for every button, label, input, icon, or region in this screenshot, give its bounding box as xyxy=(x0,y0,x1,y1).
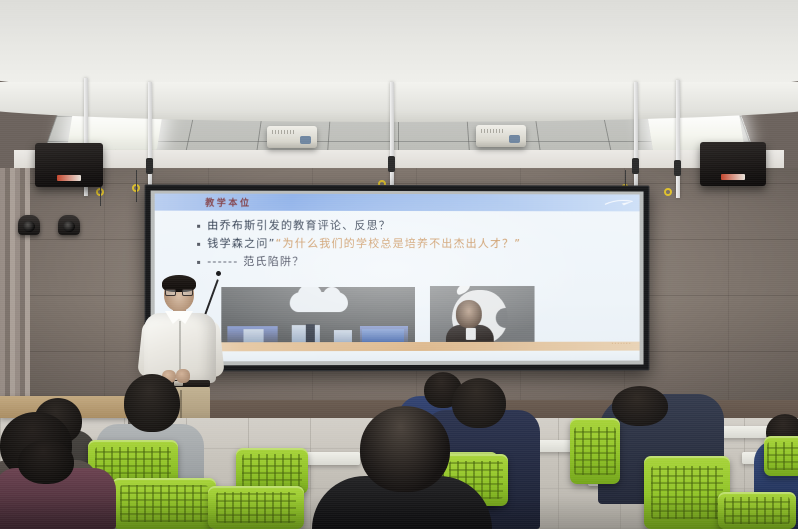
attendee-bowing-right-head xyxy=(612,386,668,426)
slide-footer-text: ······· xyxy=(612,341,632,348)
jobs-head xyxy=(456,300,482,328)
chair-center-front[interactable] xyxy=(208,486,304,529)
chair-right-back[interactable] xyxy=(570,418,620,484)
projector-vent-left xyxy=(272,130,294,134)
ptz-camera-2 xyxy=(58,215,80,235)
device-box-1 xyxy=(243,329,263,343)
jobs-phone xyxy=(466,328,476,340)
wall-speaker-right xyxy=(700,142,766,186)
mic-rod-2 xyxy=(148,82,152,200)
attendee-front-left-maroon-head xyxy=(18,440,74,484)
slide-bullet-3: ------ 范氏陷阱？ xyxy=(197,254,626,269)
attendee-grey-sweater-head xyxy=(124,374,180,432)
ceiling-projector-right xyxy=(476,125,526,147)
mic-rod-3 xyxy=(390,82,394,194)
chair-far-right-front[interactable] xyxy=(718,492,796,529)
mic-rod-hook-5 xyxy=(664,188,672,196)
chair-far-right-back[interactable] xyxy=(764,436,798,476)
slide-bullet-2-quote: “为什么我们的学校总是培养不出杰出人才？” xyxy=(276,237,522,250)
attendee-dark-jacket-center-head xyxy=(360,406,450,492)
bullet-marker-icon xyxy=(197,243,200,246)
cloud-computing-image xyxy=(221,287,415,349)
projection-screen-surface: 教学本位 由乔布斯引发的教育评论、反思？ 钱学森之问”“为什么我们的学校总是培养… xyxy=(151,190,644,365)
bullet-marker-icon xyxy=(197,261,200,264)
mic-rod-5 xyxy=(676,80,680,198)
desk-tablet-center xyxy=(300,452,360,465)
pointer-stick-tip xyxy=(216,271,221,276)
chair-front-left[interactable] xyxy=(112,478,216,529)
slide-title: 教学本位 xyxy=(205,196,251,209)
device-laptop xyxy=(362,329,404,343)
bullet-marker-icon xyxy=(197,225,200,228)
mic-rod-cap-5 xyxy=(674,160,681,176)
steve-jobs-apple-image xyxy=(430,286,535,350)
presenter-glasses-icon xyxy=(165,289,193,296)
projector-lens-right xyxy=(509,135,520,143)
mic-rod-cap-2 xyxy=(146,158,153,174)
cloud-icon xyxy=(290,292,348,312)
slide-footer-strip xyxy=(155,351,640,362)
speaker-badge-right xyxy=(721,174,745,180)
ceiling-projector-left xyxy=(267,126,317,148)
apple-bite xyxy=(496,308,516,328)
slide-swoosh-icon xyxy=(604,197,634,207)
projector-vent-right xyxy=(481,129,503,133)
slide-bullet-2-text: 钱学森之问”“为什么我们的学校总是培养不出杰出人才？” xyxy=(207,236,521,251)
slide-bullet-2: 钱学森之问”“为什么我们的学校总是培养不出杰出人才？” xyxy=(197,236,626,251)
ptz-camera-1 xyxy=(18,215,40,235)
mic-rod-cap-3 xyxy=(388,156,395,172)
wall-speaker-left xyxy=(35,143,103,187)
slide-bullet-3-text: ------ 范氏陷阱？ xyxy=(207,254,304,269)
presenter-hand-right xyxy=(176,369,190,383)
mic-rod-cap-4 xyxy=(632,158,639,174)
slide-bullet-1: 由乔布斯引发的教育评论、反思？ xyxy=(197,218,626,234)
mic-rod-wire-2 xyxy=(136,170,137,202)
slide-bullet-1-text: 由乔布斯引发的教育评论、反思？ xyxy=(207,218,391,233)
slide-bullet-list: 由乔布斯引发的教育评论、反思？ 钱学森之问”“为什么我们的学校总是培养不出杰出人… xyxy=(197,218,626,272)
projector-lens-left xyxy=(300,136,311,144)
classroom-photo-scene: 教学本位 由乔布斯引发的教育评论、反思？ 钱学森之问”“为什么我们的学校总是培养… xyxy=(0,0,798,529)
slide-image-row xyxy=(221,287,625,349)
person-silhouette xyxy=(306,324,315,344)
attendee-dark-navy-right-head xyxy=(452,378,506,428)
speaker-badge-left xyxy=(57,175,81,181)
mic-rod-4 xyxy=(634,82,638,200)
presentation-slide: 教学本位 由乔布斯引发的教育评论、反思？ 钱学森之问”“为什么我们的学校总是培养… xyxy=(155,194,640,362)
